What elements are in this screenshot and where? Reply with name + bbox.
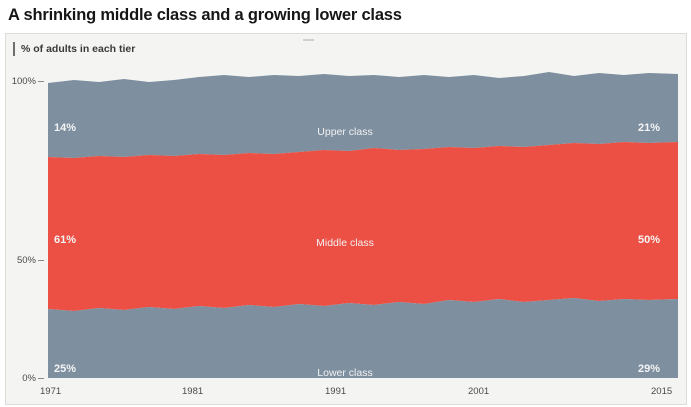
y-axis-label-100: 100% — [8, 76, 36, 87]
x-axis-label-1981: 1981 — [182, 386, 203, 397]
x-axis-label-1991: 1991 — [325, 386, 346, 397]
value-label-middle-end: 50% — [638, 234, 660, 246]
value-label-lower-start: 25% — [54, 363, 76, 375]
chart-card: % of adults in each tier 100% 50% 0% 197… — [5, 33, 687, 405]
y-axis-label-50: 50% — [8, 255, 36, 266]
stacked-area-chart — [44, 66, 682, 379]
series-label-lower-class: Lower class — [290, 367, 400, 379]
chart-page: A shrinking middle class and a growing l… — [0, 0, 691, 407]
series-label-upper-class: Upper class — [290, 126, 400, 138]
y-axis-label-0: 0% — [8, 373, 36, 384]
area-middle-class — [48, 142, 678, 311]
top-tick-artifact — [303, 39, 314, 41]
value-label-middle-start: 61% — [54, 234, 76, 246]
x-axis-label-2001: 2001 — [468, 386, 489, 397]
x-axis-label-2015: 2015 — [651, 386, 672, 397]
subtitle-rule-divider — [13, 42, 15, 56]
chart-subtitle-group: % of adults in each tier — [13, 40, 135, 58]
value-label-upper-end: 21% — [638, 122, 660, 134]
plot-left-gutter — [44, 66, 48, 379]
x-axis-label-1971: 1971 — [40, 386, 61, 397]
area-lower-class — [48, 298, 678, 378]
chart-subtitle: % of adults in each tier — [21, 43, 135, 55]
series-label-middle-class: Middle class — [290, 237, 400, 249]
value-label-upper-start: 14% — [54, 122, 76, 134]
value-label-lower-end: 29% — [638, 363, 660, 375]
plot-area — [44, 66, 682, 379]
page-title: A shrinking middle class and a growing l… — [8, 2, 678, 28]
